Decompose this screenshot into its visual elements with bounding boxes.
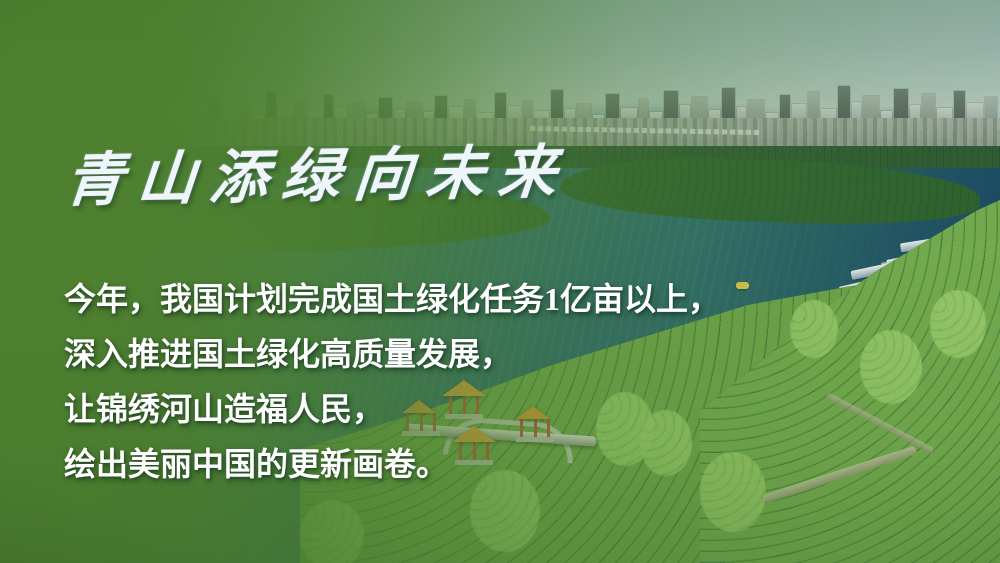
poster-content: 青山添绿向未来 今年，我国计划完成国土绿化任务1亿亩以上， 深入推进国土绿化高质… xyxy=(0,0,1000,563)
body-line-3: 让锦绣河山造福人民， xyxy=(64,382,720,437)
body-line-1: 今年，我国计划完成国土绿化任务1亿亩以上， xyxy=(64,272,720,327)
body-line-4: 绘出美丽中国的更新画卷。 xyxy=(64,437,720,492)
poster-body: 今年，我国计划完成国土绿化任务1亿亩以上， 深入推进国土绿化高质量发展， 让锦绣… xyxy=(64,272,720,492)
body-line-2: 深入推进国土绿化高质量发展， xyxy=(64,327,720,382)
poster-title: 青山添绿向未来 xyxy=(63,144,573,211)
poster-canvas: 青山添绿向未来 今年，我国计划完成国土绿化任务1亿亩以上， 深入推进国土绿化高质… xyxy=(0,0,1000,563)
